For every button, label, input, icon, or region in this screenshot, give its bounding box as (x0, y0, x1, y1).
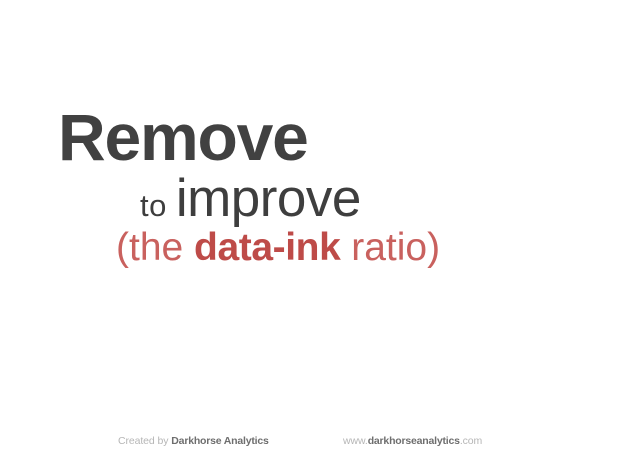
footer-website-tld: .com (460, 435, 482, 447)
footer-credit-brand: Darkhorse Analytics (171, 435, 268, 447)
headline-remove: Remove (58, 104, 308, 170)
footer-credit-prefix: Created by (118, 435, 168, 447)
headline-word-improve: improve (176, 169, 361, 228)
subheadline-data-ink-ratio: (the data-ink ratio) (116, 228, 440, 267)
subheadline-suffix: ratio) (351, 226, 440, 269)
slide-canvas: Remove toimprove (the data-ink ratio) Cr… (0, 0, 640, 460)
footer-credit: Created by Darkhorse Analytics (118, 432, 269, 450)
subheadline-prefix: (the (116, 226, 183, 269)
footer-website-domain: darkhorseanalytics (368, 435, 460, 447)
footer-website-prefix: www. (343, 435, 368, 447)
headline-word-to: to (140, 188, 167, 223)
headline-to-improve: toimprove (140, 172, 361, 225)
footer: Created by Darkhorse Analytics www.darkh… (0, 432, 640, 450)
subheadline-emphasis-data-ink: data-ink (194, 226, 340, 269)
footer-website[interactable]: www.darkhorseanalytics.com (343, 432, 482, 450)
